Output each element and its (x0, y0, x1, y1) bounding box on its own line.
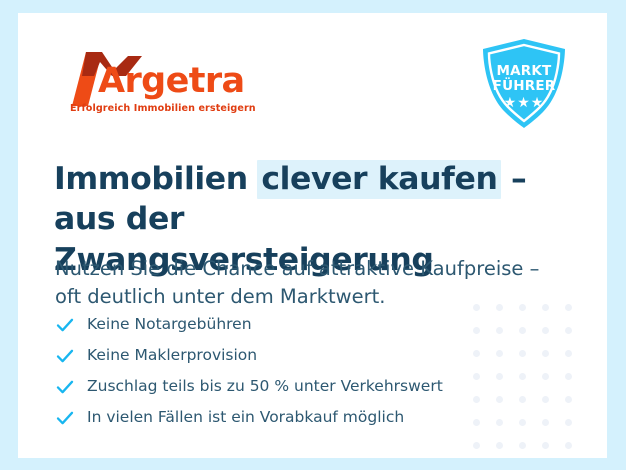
list-item-label: In vielen Fällen ist ein Vorabkauf mögli… (87, 410, 404, 426)
list-item: Keine Notargebühren (55, 309, 535, 340)
grid-dot (542, 419, 549, 426)
subheadline-line-2: oft deutlich unter dem Marktwert. (55, 285, 385, 308)
grid-dot (565, 350, 572, 357)
check-icon (55, 315, 75, 335)
grid-dot (565, 304, 572, 311)
grid-dot (542, 396, 549, 403)
headline-text-after: – (500, 161, 526, 197)
banner-card: Argetra Erfolgreich Immobilien ersteiger… (18, 13, 607, 458)
grid-dot (542, 373, 549, 380)
grid-dot (542, 350, 549, 357)
grid-dot (565, 396, 572, 403)
logo-wordmark: Argetra (98, 64, 245, 99)
headline-text-before: Immobilien (54, 161, 258, 197)
markt-fuehrer-badge: MARKT FÜHRER ★★★ (481, 38, 567, 130)
subheadline-line-1: Nutzen Sie die Chance auf attraktive Kau… (55, 257, 539, 280)
promo-banner: Argetra Erfolgreich Immobilien ersteiger… (0, 0, 626, 470)
list-item-label: Keine Notargebühren (87, 317, 252, 333)
list-item: Keine Maklerprovision (55, 340, 535, 371)
list-item-label: Keine Maklerprovision (87, 348, 257, 364)
grid-dot (565, 373, 572, 380)
check-icon (55, 346, 75, 366)
grid-dot (565, 327, 572, 334)
list-item: In vielen Fällen ist ein Vorabkauf mögli… (55, 402, 535, 433)
logo-tagline: Erfolgreich Immobilien ersteigern (70, 103, 256, 114)
benefit-list: Keine Notargebühren Keine Maklerprovisio… (55, 309, 535, 433)
subheadline: Nutzen Sie die Chance auf attraktive Kau… (55, 255, 555, 312)
headline-line-1: Immobilien clever kaufen – (54, 161, 526, 197)
grid-dot (542, 442, 549, 449)
shield-badge-icon (481, 38, 567, 130)
check-icon (55, 408, 75, 428)
grid-dot (519, 442, 526, 449)
list-item: Zuschlag teils bis zu 50 % unter Verkehr… (55, 371, 535, 402)
argetra-logo: Argetra Erfolgreich Immobilien ersteiger… (56, 44, 246, 124)
check-icon (55, 377, 75, 397)
headline-highlight: clever kaufen (257, 160, 501, 199)
grid-dot (565, 442, 572, 449)
list-item-label: Zuschlag teils bis zu 50 % unter Verkehr… (87, 379, 443, 395)
grid-dot (542, 327, 549, 334)
grid-dot (496, 442, 503, 449)
grid-dot (473, 442, 480, 449)
grid-dot (565, 419, 572, 426)
